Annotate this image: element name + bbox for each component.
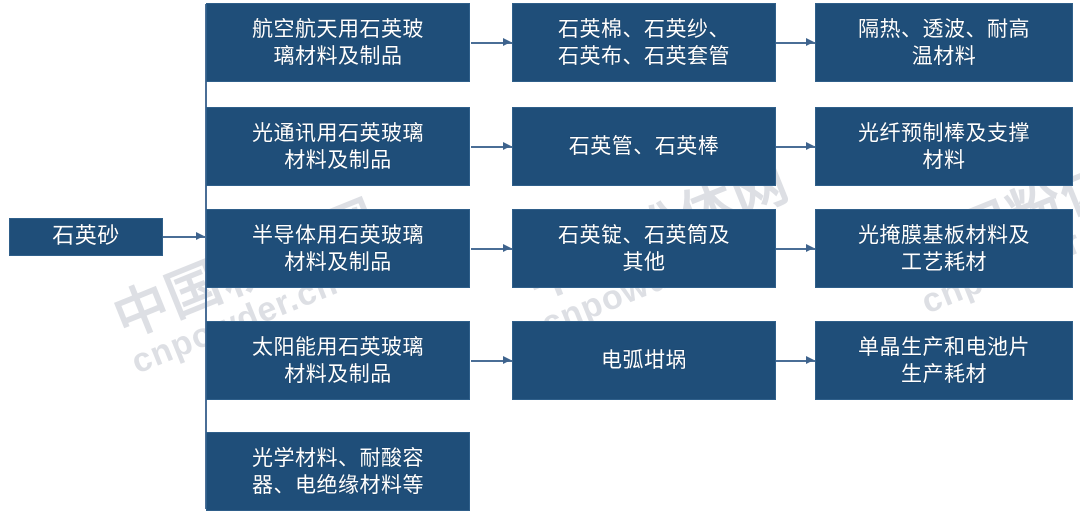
node-label: 石英砂 <box>18 223 154 251</box>
arrowhead-c2n3-to-c3n3 <box>503 244 511 252</box>
node-label: 石英锭、石英筒及 其他 <box>521 222 767 276</box>
node-quartz-wool-yarn-cloth-sleeve[interactable]: 石英棉、石英纱、 石英布、石英套管 <box>512 3 776 82</box>
node-insulation-wave-transparent-high-temp-material[interactable]: 隔热、透波、耐高 温材料 <box>815 3 1073 82</box>
node-optical-acid-resistant-insulation-materials[interactable]: 光学材料、耐酸容 器、电绝缘材料等 <box>206 432 470 511</box>
node-label: 光纤预制棒及支撑 材料 <box>824 120 1064 174</box>
node-solar-quartz-glass[interactable]: 太阳能用石英玻璃 材料及制品 <box>206 321 470 400</box>
node-label: 隔热、透波、耐高 温材料 <box>824 16 1064 70</box>
node-label: 太阳能用石英玻璃 材料及制品 <box>215 334 461 388</box>
node-label: 航空航天用石英玻 璃材料及制品 <box>215 16 461 70</box>
node-label: 光学材料、耐酸容 器、电绝缘材料等 <box>215 445 461 499</box>
node-label: 石英管、石英棒 <box>521 133 767 160</box>
node-quartz-tube-rod[interactable]: 石英管、石英棒 <box>512 107 776 186</box>
flowchart-canvas: 中国粉体网 cnpowder.cn 中国粉体网 cnpowder.cn 中国粉体… <box>0 0 1080 514</box>
node-label: 单晶生产和电池片 生产耗材 <box>824 334 1064 388</box>
node-optical-communication-quartz-glass[interactable]: 光通讯用石英玻璃 材料及制品 <box>206 107 470 186</box>
node-quartz-ingot-cylinder-other[interactable]: 石英锭、石英筒及 其他 <box>512 209 776 288</box>
node-arc-crucible[interactable]: 电弧坩埚 <box>512 321 776 400</box>
node-label: 半导体用石英玻璃 材料及制品 <box>215 222 461 276</box>
arrowhead-c3n4-to-c4n4 <box>806 356 814 364</box>
arrowhead-c2n1-to-c3n1 <box>503 38 511 46</box>
arrowhead-c3n1-to-c4n1 <box>806 38 814 46</box>
node-monocrystal-cell-production-consumables[interactable]: 单晶生产和电池片 生产耗材 <box>815 321 1073 400</box>
node-quartz-sand[interactable]: 石英砂 <box>9 218 163 256</box>
arrowhead-c3n2-to-c4n2 <box>806 142 814 150</box>
node-aerospace-quartz-glass[interactable]: 航空航天用石英玻 璃材料及制品 <box>206 3 470 82</box>
node-label: 光通讯用石英玻璃 材料及制品 <box>215 120 461 174</box>
node-label: 光掩膜基板材料及 工艺耗材 <box>824 222 1064 276</box>
arrowhead-c2n4-to-c3n4 <box>503 356 511 364</box>
arrowhead-c2n2-to-c3n2 <box>503 142 511 150</box>
node-semiconductor-quartz-glass[interactable]: 半导体用石英玻璃 材料及制品 <box>206 209 470 288</box>
node-label: 电弧坩埚 <box>521 347 767 374</box>
arrowhead-root-to-spine <box>196 232 204 240</box>
node-label: 石英棉、石英纱、 石英布、石英套管 <box>521 16 767 70</box>
arrowhead-c3n3-to-c4n3 <box>806 244 814 252</box>
node-photomask-substrate-process-consumables[interactable]: 光掩膜基板材料及 工艺耗材 <box>815 209 1073 288</box>
node-optical-fiber-preform-support-material[interactable]: 光纤预制棒及支撑 材料 <box>815 107 1073 186</box>
